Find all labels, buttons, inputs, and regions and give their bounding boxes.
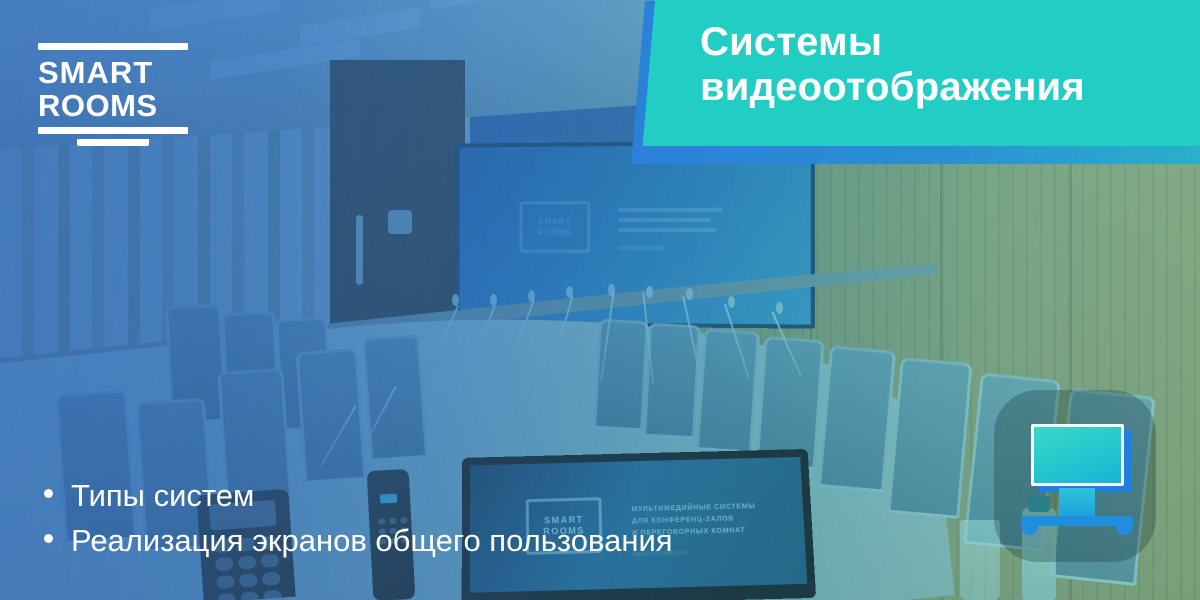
brand-logo[interactable]: SMART ROOMS <box>38 43 188 146</box>
display-icon-foot-left <box>1021 518 1038 535</box>
logo-top-bar <box>38 43 188 50</box>
display-monitor-icon <box>1031 424 1124 486</box>
list-item-label: Реализация экранов общего пользования <box>71 518 673 563</box>
logo-line-smart: SMART <box>38 56 188 89</box>
logo-stand-icon <box>77 139 149 146</box>
list-item-label: Типы систем <box>71 473 254 518</box>
page-title: Системы видеоотображения <box>700 20 1200 110</box>
page-title-line1: Системы <box>700 20 1200 65</box>
display-icon-foot-right <box>1116 518 1133 535</box>
logo-wordmark: SMART ROOMS <box>38 56 188 122</box>
bullet-list: Типы систем Реализация экранов общего по… <box>38 473 898 563</box>
page-title-line2: видеоотображения <box>700 65 1200 110</box>
title-panel: Системы видеоотображения <box>612 0 1200 169</box>
list-item[interactable]: Типы систем <box>38 473 898 518</box>
bullet-dot-icon <box>44 489 53 498</box>
list-item[interactable]: Реализация экранов общего пользования <box>38 518 898 563</box>
slide-root: SMART ROOMS <box>0 0 1200 600</box>
logo-bottom-bar <box>38 127 188 134</box>
bullet-dot-icon <box>44 534 53 543</box>
logo-line-rooms: ROOMS <box>38 89 188 122</box>
display-icon-neck <box>1059 488 1095 518</box>
